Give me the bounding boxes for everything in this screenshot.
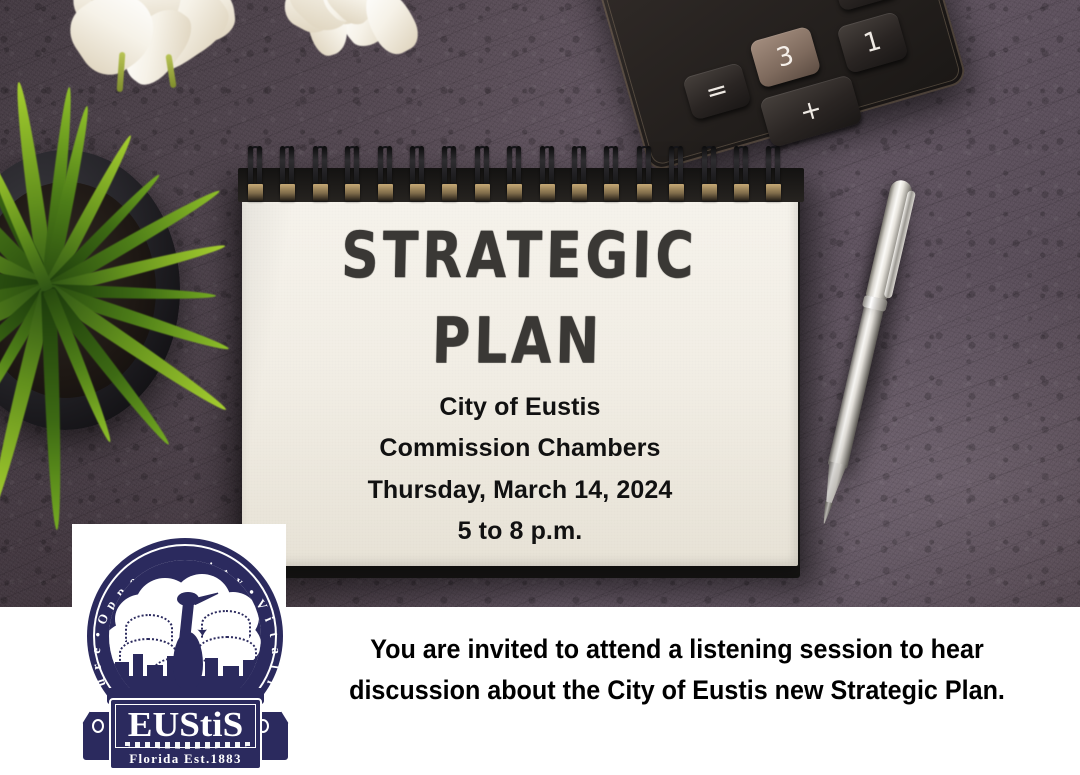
seal-rim-char: a xyxy=(269,645,282,657)
spiral-coil xyxy=(507,146,524,204)
spiral-coil xyxy=(766,146,783,204)
skyline-building xyxy=(115,662,129,678)
skyline-building xyxy=(243,660,254,678)
detail-city: City of Eustis xyxy=(242,387,798,429)
spiral-coil xyxy=(702,146,719,204)
spiral-coil xyxy=(734,146,751,204)
heron-bird-icon xyxy=(165,586,213,692)
headline-line-2: PLAN xyxy=(239,311,796,373)
spiral-coil xyxy=(345,146,362,204)
skyline-building xyxy=(133,654,143,678)
skyline-building xyxy=(223,666,239,678)
water-waves-icon xyxy=(125,742,250,749)
spiral-coil xyxy=(378,146,395,204)
spiral-coil xyxy=(280,146,297,204)
spiral-coil xyxy=(604,146,621,204)
ribbon-curl-icon xyxy=(92,719,104,733)
detail-venue: Commission Chambers xyxy=(242,428,798,470)
spiral-coil xyxy=(313,146,330,204)
detail-date: Thursday, March 14, 2024 xyxy=(242,470,798,512)
notepad-content: STRATEGIC PLAN City of Eustis Commission… xyxy=(242,226,798,553)
skyline-building xyxy=(147,665,163,678)
seal-rim-char: l xyxy=(268,660,283,674)
headline: STRATEGIC PLAN xyxy=(239,226,798,374)
city-of-eustis-seal: Culture•Opportunity•Vitality• xyxy=(79,538,292,770)
spiral-coil xyxy=(669,146,686,204)
ribbon-center-plate: EUStiS Florida Est.1883 xyxy=(109,698,262,770)
spiral-notepad: STRATEGIC PLAN City of Eustis Commission… xyxy=(242,172,802,578)
detail-time: 5 to 8 p.m. xyxy=(242,511,798,553)
seal-ribbon: EUStiS Florida Est.1883 xyxy=(79,698,292,770)
strategic-plan-poster: = 3 + 1 × STRATEGIC PLAN City of Eustis xyxy=(0,0,1080,775)
invitation-line-1: You are invited to attend a listening se… xyxy=(319,629,1035,670)
spiral-coil xyxy=(572,146,589,204)
seal-rim-char: r xyxy=(89,660,104,674)
seal-city-name: EUStiS xyxy=(128,707,243,742)
seal-rim-char: e xyxy=(88,645,101,657)
invitation-text: You are invited to attend a listening se… xyxy=(319,629,1035,711)
spiral-coil xyxy=(637,146,654,204)
notepad-page: STRATEGIC PLAN City of Eustis Commission… xyxy=(242,184,798,566)
spiral-coil xyxy=(475,146,492,204)
spiral-coil xyxy=(248,146,265,204)
spiral-coil xyxy=(410,146,427,204)
seal-established-text: Florida Est.1883 xyxy=(111,751,260,767)
spiral-coil xyxy=(442,146,459,204)
headline-line-1: STRATEGIC xyxy=(340,220,698,293)
spiral-coil xyxy=(540,146,557,204)
event-details: City of Eustis Commission Chambers Thurs… xyxy=(242,387,798,553)
invitation-line-2: discussion about the City of Eustis new … xyxy=(319,670,1035,711)
